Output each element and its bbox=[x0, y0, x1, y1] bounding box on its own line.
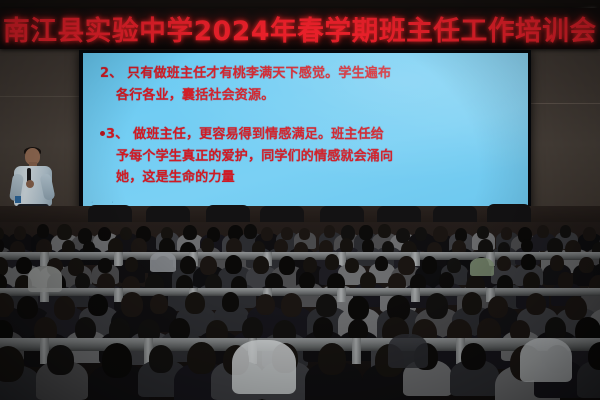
audience-head bbox=[521, 239, 533, 253]
audience-head bbox=[579, 257, 593, 273]
audience-head bbox=[316, 294, 336, 317]
seat-rail-post bbox=[337, 288, 346, 302]
audience-head bbox=[375, 256, 388, 271]
audience-member bbox=[28, 266, 62, 292]
audience-head bbox=[583, 227, 595, 241]
audience-head bbox=[17, 296, 38, 320]
audience-head bbox=[88, 294, 108, 316]
audience-head bbox=[185, 292, 205, 314]
audience-head bbox=[281, 293, 302, 317]
audience-head bbox=[102, 343, 132, 377]
audience-head bbox=[325, 254, 339, 270]
audience-head bbox=[54, 296, 76, 320]
audience-member bbox=[470, 258, 494, 276]
audience-member bbox=[520, 338, 572, 382]
audience-head bbox=[422, 256, 437, 273]
projection-screen: 2、 只有做班主任才有桃李满天下感觉。学生遍布 各行各业，囊括社会资源。 3、 … bbox=[83, 53, 528, 210]
audience-head bbox=[299, 228, 310, 241]
audience-area bbox=[0, 222, 600, 400]
audience-head bbox=[183, 225, 197, 241]
audience-head bbox=[303, 257, 318, 273]
audience-head bbox=[324, 225, 336, 238]
audience-head bbox=[426, 293, 449, 318]
audience-head bbox=[340, 238, 353, 252]
audience-member bbox=[232, 340, 296, 394]
audience-head bbox=[253, 256, 269, 274]
audience-head bbox=[439, 272, 454, 289]
audience-head bbox=[415, 227, 427, 241]
audience-head bbox=[461, 343, 486, 370]
slide-paragraph-3-line-2: 予每个学生真正的爱护，同学们的情感就会涌向 bbox=[100, 146, 516, 168]
slide-paragraph-2-line-1: 2、 只有做班主任才有桃李满天下感觉。学生遍布 bbox=[100, 66, 391, 81]
audience-head bbox=[125, 257, 138, 272]
audience-head bbox=[222, 292, 240, 312]
audience-head bbox=[526, 293, 546, 316]
audience-head bbox=[348, 296, 370, 320]
led-banner: 南江县实验中学2024年春学期班主任工作培训会 bbox=[0, 8, 600, 49]
wall-seam-right bbox=[524, 103, 600, 104]
audience-head bbox=[398, 256, 415, 275]
audience-head bbox=[150, 294, 168, 314]
audience-head bbox=[187, 342, 216, 374]
audience-head bbox=[14, 226, 26, 240]
audience-head bbox=[588, 342, 600, 370]
audience-head bbox=[242, 317, 263, 340]
slide-paragraph-2-line-2: 各行各业，囊括社会资源。 bbox=[100, 85, 516, 107]
audience-head bbox=[359, 225, 372, 240]
led-banner-text: 南江县实验中学2024年春学期班主任工作培训会 bbox=[3, 9, 597, 48]
audience-head bbox=[447, 258, 461, 273]
audience-head bbox=[537, 225, 549, 239]
audience-head bbox=[558, 272, 573, 289]
audience-head bbox=[47, 345, 73, 374]
audience-head bbox=[433, 226, 448, 242]
audience-head bbox=[521, 254, 535, 270]
seat-rail-post bbox=[411, 288, 420, 302]
seat-rail-post bbox=[114, 252, 123, 266]
audience-head bbox=[256, 294, 276, 316]
audience-head bbox=[378, 224, 391, 238]
slide-paragraph-2: 2、 只有做班主任才有桃李满天下感觉。学生遍布 各行各业，囊括社会资源。 bbox=[100, 63, 516, 106]
audience-head bbox=[501, 227, 512, 240]
audience-member bbox=[388, 334, 428, 368]
audience-head bbox=[98, 258, 111, 273]
audience-head bbox=[497, 256, 511, 271]
seat-rail-post bbox=[352, 338, 361, 364]
audience-head bbox=[477, 226, 488, 239]
audience-head bbox=[318, 343, 346, 375]
audience-head bbox=[279, 256, 296, 275]
audience-head bbox=[261, 227, 274, 241]
audience-head bbox=[545, 317, 566, 341]
audience-head bbox=[121, 292, 143, 316]
audience-head bbox=[200, 256, 217, 275]
audience-head bbox=[345, 258, 359, 273]
bullet-point-icon bbox=[100, 131, 105, 136]
speaker-hand bbox=[26, 180, 34, 188]
audience-head bbox=[313, 317, 334, 340]
audience-head bbox=[37, 224, 50, 238]
seat-rail bbox=[0, 338, 600, 351]
audience-head bbox=[488, 296, 508, 318]
slide-content: 2、 只有做班主任才有桃李满天下感觉。学生遍布 各行各业，囊括社会资源。 3、 … bbox=[100, 60, 516, 189]
audience-head bbox=[225, 255, 242, 274]
audience-head bbox=[57, 224, 71, 240]
slide-paragraph-3-line-3: 她，这是生命的力量 bbox=[100, 167, 516, 189]
audience-head bbox=[201, 238, 214, 253]
slide-paragraph-3: 3、 做班主任，更容易得到情感满足。班主任给 予每个学生真正的爱护，同学们的情感… bbox=[100, 124, 516, 189]
wall-seam-left bbox=[0, 96, 84, 97]
auditorium-photo-scene: 南江县实验中学2024年春学期班主任工作培训会 2、 只有做班主任才有桃李满天下… bbox=[0, 0, 600, 400]
audience-head bbox=[281, 227, 293, 240]
slide-paragraph-3-line-1: 3、 做班主任，更容易得到情感满足。班主任给 bbox=[106, 127, 384, 142]
audience-member bbox=[150, 252, 176, 272]
audience-head bbox=[149, 345, 174, 373]
audience-head bbox=[462, 292, 483, 315]
audience-head bbox=[550, 255, 564, 271]
audience-head bbox=[560, 225, 571, 237]
seat-rail bbox=[0, 288, 600, 296]
